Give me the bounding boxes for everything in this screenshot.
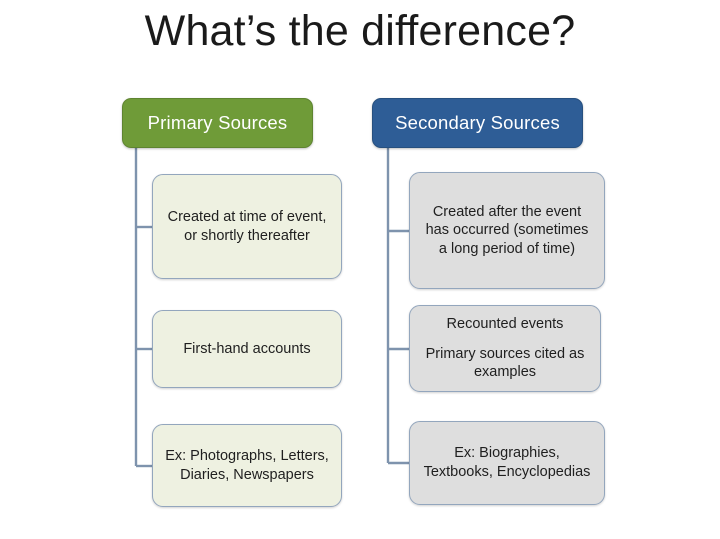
secondary-node-recounted-events[interactable]: Recounted events Primary sources cited a… <box>409 305 601 392</box>
primary-node-first-hand-accounts[interactable]: First-hand accounts <box>152 310 342 388</box>
column-header-primary-label: Primary Sources <box>148 112 288 134</box>
column-header-primary-sources[interactable]: Primary Sources <box>122 98 313 148</box>
node-text-line: Ex: Biographies, Textbooks, Encyclopedia… <box>420 444 594 481</box>
node-text-line: Created at time of event, or shortly the… <box>163 208 331 245</box>
page-title: What’s the difference? <box>0 8 720 55</box>
node-text-line: Primary sources cited as examples <box>420 345 590 382</box>
node-text-line: Ex: Photographs, Letters, Diaries, Newsp… <box>163 447 331 484</box>
secondary-node-examples[interactable]: Ex: Biographies, Textbooks, Encyclopedia… <box>409 421 605 505</box>
node-text-line: First-hand accounts <box>183 340 310 359</box>
slide-canvas: What’s the difference? Primary Sources S… <box>0 0 720 539</box>
secondary-node-created-after-event[interactable]: Created after the event has occurred (so… <box>409 172 605 289</box>
node-text-line: Created after the event has occurred (so… <box>420 203 594 259</box>
primary-node-examples[interactable]: Ex: Photographs, Letters, Diaries, Newsp… <box>152 424 342 507</box>
connector-lines <box>0 0 720 539</box>
column-header-secondary-label: Secondary Sources <box>395 112 560 134</box>
primary-node-created-at-time[interactable]: Created at time of event, or shortly the… <box>152 174 342 279</box>
node-text-line: Recounted events <box>447 315 564 334</box>
column-header-secondary-sources[interactable]: Secondary Sources <box>372 98 583 148</box>
